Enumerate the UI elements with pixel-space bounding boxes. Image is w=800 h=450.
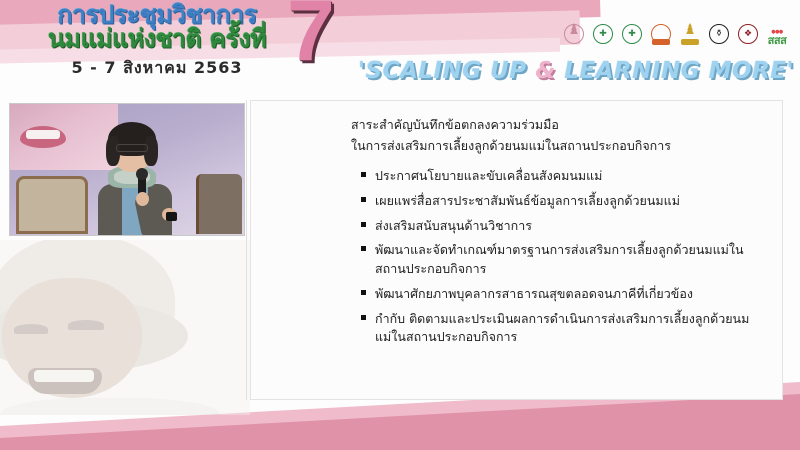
list-item-label: พัฒนาและจัดทำเกณฑ์มาตรฐานการส่งเสริมการเ… xyxy=(375,242,744,276)
content-heading-line-1: สาระสำคัญบันทึกข้อตกลงความร่วมมือ xyxy=(351,115,771,136)
tagline-ampersand: & xyxy=(535,58,556,84)
logo-green-circular-seal-1: ✚ xyxy=(591,23,615,47)
list-item: เผยแพร่สื่อสารประชาสัมพันธ์ข้อมูลการเลี้… xyxy=(361,192,761,211)
list-item-label: ส่งเสริมสนับสนุนด้านวิชาการ xyxy=(375,218,532,233)
logo-orange-emblem xyxy=(649,23,673,47)
tagline-part-1: 'SCALING UP xyxy=(358,58,535,84)
square-bullet-icon xyxy=(361,222,366,227)
list-item: กำกับ ติดตามและประเมินผลการดำเนินการส่งเ… xyxy=(361,310,761,348)
tagline-part-2: LEARNING MORE' xyxy=(556,58,794,84)
list-item: พัฒนาและจัดทำเกณฑ์มาตรฐานการส่งเสริมการเ… xyxy=(361,241,761,279)
logo-thaihealth-label: สสส xyxy=(768,34,787,47)
list-item: พัฒนาศักยภาพบุคลากรสาธารณสุขตลอดจนภาคีที… xyxy=(361,285,761,304)
square-bullet-icon xyxy=(361,197,366,202)
logo-thaihealth-sss: ●●●สสส xyxy=(765,23,789,47)
list-item-label: กำกับ ติดตามและประเมินผลการดำเนินการส่งเ… xyxy=(375,311,749,345)
logo-royal-pink-seal xyxy=(562,23,586,47)
square-bullet-icon xyxy=(361,246,366,251)
logo-golden-pagoda xyxy=(678,23,702,47)
logo-green-circular-seal-2: ✚ xyxy=(620,23,644,47)
conference-title-line-2: นมแม่แห่งชาติ ครั้งที่ xyxy=(22,26,292,52)
content-bullet-list: ประกาศนโยบายและขับเคลื่อนสังคมนมแม่ เผยแ… xyxy=(361,167,761,353)
content-heading: สาระสำคัญบันทึกข้อตกลงความร่วมมือ ในการส… xyxy=(351,115,771,156)
content-heading-line-2: ในการส่งเสริมการเลี้ยงลูกด้วยนมแม่ในสถาน… xyxy=(351,136,771,157)
child-background-photo xyxy=(0,240,250,415)
edition-number: 7 xyxy=(287,0,335,74)
conference-tagline: 'SCALING UP & LEARNING MORE' xyxy=(358,58,788,84)
presentation-slide: สาระสำคัญบันทึกข้อตกลงความร่วมมือ ในการส… xyxy=(0,0,800,450)
square-bullet-icon xyxy=(361,315,366,320)
slide-header: การประชุมวิชาการ นมแม่แห่งชาติ ครั้งที่ … xyxy=(0,0,800,95)
conference-date: 5 - 7 สิงหาคม 2563 xyxy=(22,56,292,81)
list-item-label: พัฒนาศักยภาพบุคลากรสาธารณสุขตลอดจนภาคีที… xyxy=(375,286,693,301)
logo-dark-red-seal: ❖ xyxy=(736,23,760,47)
conference-title-block: การประชุมวิชาการ นมแม่แห่งชาติ ครั้งที่ … xyxy=(22,2,292,81)
column-divider xyxy=(246,100,247,400)
list-item-label: เผยแพร่สื่อสารประชาสัมพันธ์ข้อมูลการเลี้… xyxy=(375,193,680,208)
list-item: ส่งเสริมสนับสนุนด้านวิชาการ xyxy=(361,217,761,236)
glasses-icon xyxy=(116,144,148,152)
speaker-video-frame xyxy=(9,103,245,236)
list-item-label: ประกาศนโยบายและขับเคลื่อนสังคมนมแม่ xyxy=(375,168,602,183)
logo-black-circular-seal: ⚱ xyxy=(707,23,731,47)
square-bullet-icon xyxy=(361,172,366,177)
partner-logo-strip: ✚ ✚ ⚱ ❖ ●●●สสส xyxy=(562,23,789,47)
square-bullet-icon xyxy=(361,290,366,295)
list-item: ประกาศนโยบายและขับเคลื่อนสังคมนมแม่ xyxy=(361,167,761,186)
content-panel: สาระสำคัญบันทึกข้อตกลงความร่วมมือ ในการส… xyxy=(250,100,783,400)
